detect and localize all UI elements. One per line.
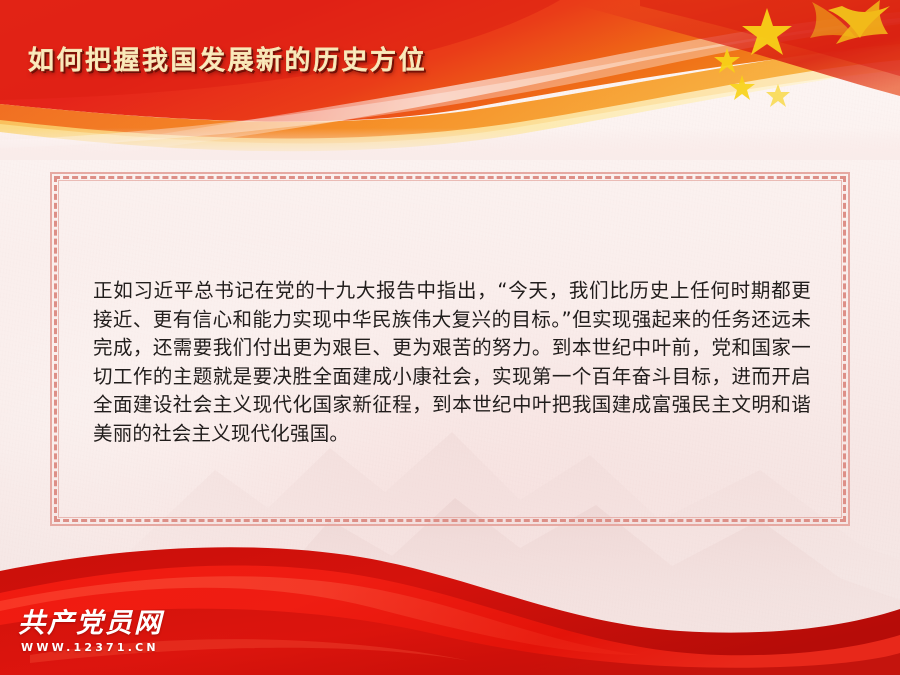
- banner-artwork: [0, 0, 900, 160]
- content-frame: 正如习近平总书记在党的十九大报告中指出，“今天，我们比历史上任何时期都更接近、更…: [50, 172, 850, 526]
- site-logo-url: WWW.12371.CN: [21, 642, 163, 653]
- content-frame-inner-border: 正如习近平总书记在党的十九大报告中指出，“今天，我们比历史上任何时期都更接近、更…: [54, 176, 846, 522]
- header-banner: [0, 0, 900, 160]
- slide-canvas: 如何把握我国发展新的历史方位 正如习近平总书记在党的十九大报告中指出，“今天，我…: [0, 0, 900, 675]
- page-title: 如何把握我国发展新的历史方位: [28, 47, 427, 76]
- site-logo-text: 共产党员网: [18, 610, 163, 637]
- site-logo[interactable]: 共产党员网 WWW.12371.CN: [18, 610, 163, 653]
- body-paragraph: 正如习近平总书记在党的十九大报告中指出，“今天，我们比历史上任何时期都更接近、更…: [93, 277, 811, 448]
- page-title-text: 如何把握我国发展新的历史方位: [28, 47, 427, 76]
